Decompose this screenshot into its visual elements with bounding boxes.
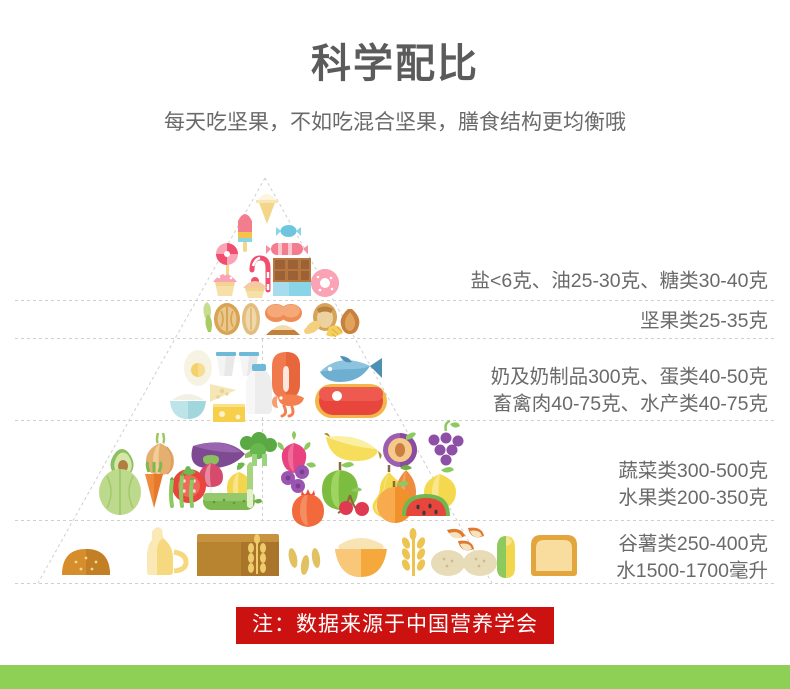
peanut-icon (265, 304, 302, 322)
tier-label-vegetables-fruits: 蔬菜类300-500克 水果类200-350克 (618, 458, 768, 512)
tier-label-nuts: 坚果类25-35克 (640, 308, 768, 335)
tier-label-sweets-fats: 盐<6克、油25-30克、糖类30-40克 (471, 268, 768, 295)
tier-label-grains-water: 谷薯类250-400克 水1500-1700毫升 (616, 531, 768, 585)
cereal-bowl-icon (170, 394, 206, 419)
food-pyramid (0, 0, 790, 689)
pyramid-left-edge (38, 178, 265, 583)
tier-label-dairy-protein: 奶及奶制品300克、蛋类40-50克 畜禽肉40-75克、水产类40-75克 (491, 364, 768, 418)
bread-loaf-icon (197, 534, 279, 576)
pistachio-icon (203, 302, 212, 332)
cashew-icon (304, 321, 322, 334)
candy-roll-icon (266, 243, 308, 255)
cupcake-icon (243, 277, 267, 298)
chocolate-bar-icon (273, 258, 311, 296)
toast-icon (531, 535, 577, 576)
potato-halves (447, 528, 484, 551)
peach-half-icon (383, 432, 417, 467)
leek-icon (247, 462, 253, 508)
oil-jug-icon (147, 527, 186, 575)
almond-icon (341, 309, 360, 334)
tier-label-line: 奶及奶制品300克、蛋类40-50克 (491, 364, 768, 391)
shrimp-icon (272, 394, 304, 416)
walnut-icon (214, 303, 240, 335)
broccoli-icon (240, 432, 277, 466)
tier-nuts-icons (203, 302, 359, 337)
banana-icon (324, 433, 382, 461)
pomegranate-icon (292, 489, 324, 527)
egg-icon (184, 350, 212, 386)
salmon-steak-icon (272, 352, 300, 400)
peanut-pod-icon (266, 325, 300, 335)
potatoes-icon (447, 528, 484, 551)
tier-label-line: 水果类200-350克 (618, 485, 768, 512)
rice-grain-icon (431, 550, 497, 576)
ice-cream-cone-icon (256, 194, 278, 224)
tier-label-line: 蔬菜类300-500克 (618, 458, 768, 485)
bottom-green-bar (0, 665, 790, 689)
tier-label-line: 谷薯类250-400克 (616, 531, 768, 558)
almond-shell-icon (242, 303, 260, 335)
tier-sweets-icons (213, 194, 339, 298)
lollipop-icon (216, 243, 238, 276)
carrot-icon (145, 462, 163, 508)
donut-icon (311, 269, 339, 297)
corn-icon (497, 536, 515, 578)
fish-icon (320, 356, 382, 382)
tier-label-line: 盐<6克、油25-30克、糖类30-40克 (471, 268, 768, 295)
grapes-icon (429, 421, 464, 466)
tier-dairy-protein-icons (170, 350, 387, 422)
wrapped-candy-icon (276, 225, 301, 237)
popsicle-icon (238, 214, 252, 252)
bread-bun-icon (62, 549, 110, 575)
tier-grains-icons (62, 527, 577, 578)
cheese-block-icon (213, 404, 245, 422)
tier-label-line: 畜禽肉40-75克、水产类40-75克 (491, 391, 768, 418)
tier-label-line: 水1500-1700毫升 (616, 558, 768, 585)
cucumber-icon (203, 493, 262, 510)
rice-bowl-icon (335, 538, 387, 577)
infographic-root: 科学配比 每天吃坚果，不如吃混合坚果，膳食结构更均衡哦 (0, 0, 790, 689)
pyramid-graphic (0, 0, 790, 689)
seeds-icon (287, 547, 321, 575)
tier-vegetables-fruits-icons (99, 421, 464, 527)
cupcake-icon (213, 273, 237, 296)
tier-label-line: 坚果类25-35克 (640, 308, 768, 335)
wheat-icon (400, 528, 426, 576)
cabbage-icon (99, 469, 141, 515)
ham-icon (315, 384, 387, 418)
source-note-banner: 注：数据来源于中国营养学会 (236, 607, 554, 644)
cheese-wedge-icon (210, 384, 236, 402)
